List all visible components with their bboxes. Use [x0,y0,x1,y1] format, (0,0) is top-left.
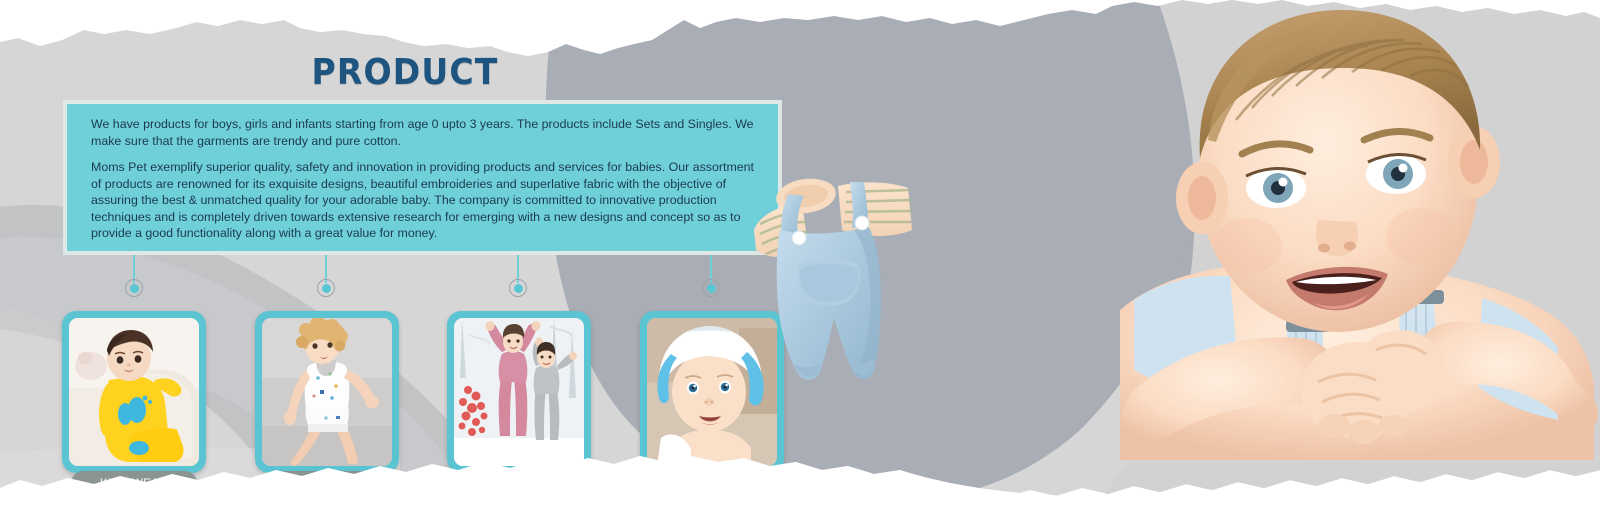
category-label-text: ACCESSORIES [673,478,760,490]
category-card-kids-innerwear[interactable] [255,311,399,473]
category-label-text: KIDS INNERWEAR [273,478,379,490]
connector-dot-2 [317,279,335,297]
category-card-kids-wear[interactable] [62,311,206,473]
blue-denim-overalls-illustration [742,168,942,383]
child-in-white-innerwear-photo [262,318,392,466]
category-label-kids-wear[interactable]: KIDS WEAR [71,471,197,496]
info-paragraph-1: We have products for boys, girls and inf… [91,116,756,149]
connector-dot-3 [509,279,527,297]
info-panel-body: We have products for boys, girls and inf… [67,104,778,251]
page-title: PRODUCT [32,52,777,93]
connector-dot-4 [702,279,720,297]
smiling-baby-hero-photo [1090,0,1600,490]
category-label-text: KIDS THERMALS [470,478,568,490]
connector-dot-1 [125,279,143,297]
info-panel: We have products for boys, girls and inf… [63,100,782,255]
two-kids-in-thermals-snow-photo [454,318,584,466]
category-label-accessories[interactable]: ACCESSORIES [654,471,780,496]
info-paragraph-2: Moms Pet exemplify superior quality, saf… [91,159,756,242]
category-label-kids-thermals[interactable]: KIDS THERMALS [457,471,581,496]
baby-in-yellow-outfit-photo [69,318,199,466]
category-label-kids-innerwear[interactable]: KIDS INNERWEAR [262,471,390,496]
category-label-text: KIDS WEAR [100,478,168,490]
category-card-kids-thermals[interactable] [447,311,591,473]
product-section: PRODUCT We have products for boys, girls… [0,0,1600,521]
